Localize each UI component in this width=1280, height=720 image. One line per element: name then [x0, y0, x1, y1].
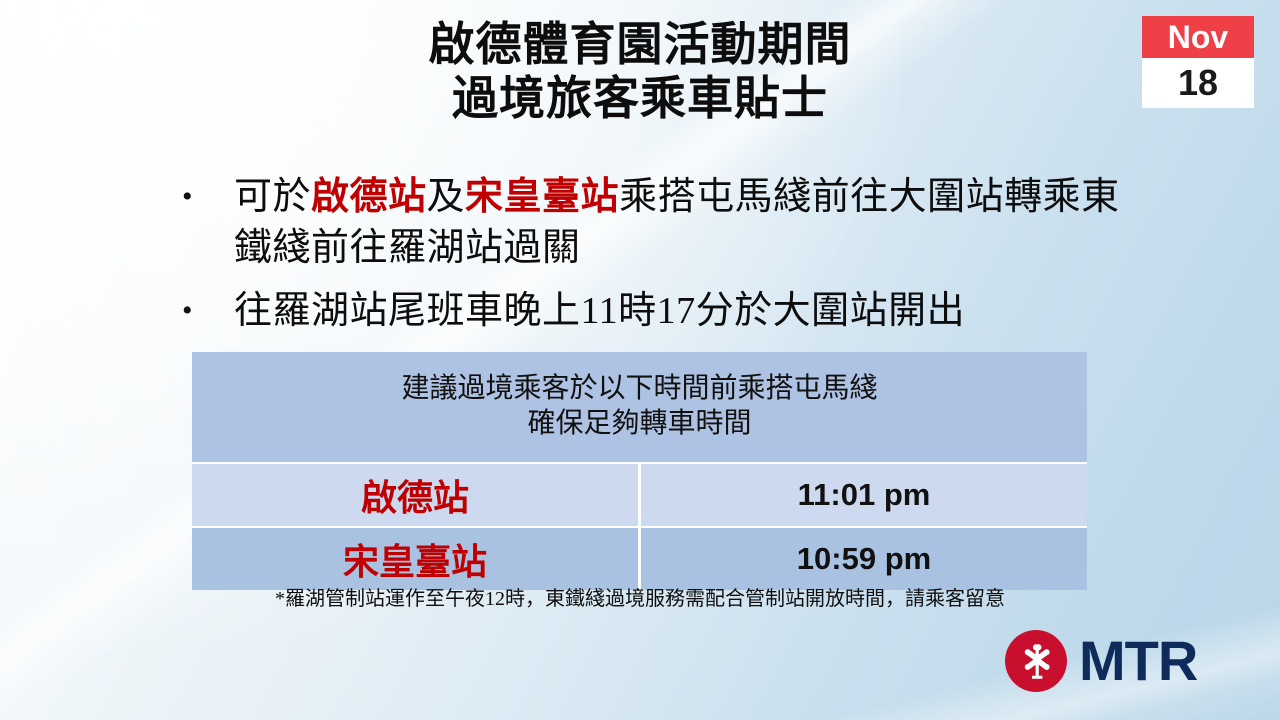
date-badge-month: Nov: [1142, 16, 1254, 58]
table-cell-time: 11:01 pm: [640, 463, 1088, 527]
page-title: 啟德體育園活動期間 過境旅客乘車貼士: [0, 18, 1280, 126]
table-cell-station: 宋皇臺站: [192, 527, 640, 590]
table-row: 宋皇臺站 10:59 pm: [192, 527, 1087, 590]
bullet-item: • 往羅湖站尾班車晚上11時17分於大圍站開出: [176, 286, 1136, 337]
bullet-item: • 可於啟德站及宋皇臺站乘搭屯馬綫前往大圍站轉乘東鐵綫前往羅湖站過關: [176, 172, 1136, 274]
mtr-roundel-icon: [1005, 630, 1067, 692]
page-title-line-2: 過境旅客乘車貼士: [0, 72, 1280, 126]
date-badge-day: 18: [1142, 58, 1254, 108]
footnote: *羅湖管制站運作至午夜12時，東鐵綫過境服務需配合管制站開放時間，請乘客留意: [0, 586, 1280, 612]
bullet-segment: 往羅湖站尾班車晚上11時17分於大圍站開出: [234, 290, 965, 332]
bullet-segment: 可於: [234, 176, 311, 218]
bullet-segment-station-kai-tak: 啟德站: [311, 176, 427, 218]
table-cell-station: 啟德站: [192, 463, 640, 527]
mtr-logo: MTR: [1005, 630, 1197, 692]
departure-advice-table: 建議過境乘客於以下時間前乘搭屯馬綫 確保足夠轉車時間 啟德站 11:01 pm …: [192, 352, 1087, 590]
table-header-cell: 建議過境乘客於以下時間前乘搭屯馬綫 確保足夠轉車時間: [192, 352, 1087, 463]
date-badge: Nov 18: [1142, 16, 1254, 108]
bullet-segment: 及: [427, 176, 466, 218]
table-header-line-2: 確保足夠轉車時間: [192, 406, 1087, 441]
table-cell-time: 10:59 pm: [640, 527, 1088, 590]
bullet-marker-icon: •: [176, 172, 234, 222]
table-row: 啟德站 11:01 pm: [192, 463, 1087, 527]
bullet-list: • 可於啟德站及宋皇臺站乘搭屯馬綫前往大圍站轉乘東鐵綫前往羅湖站過關 • 往羅湖…: [176, 172, 1136, 349]
slide-canvas: Nov 18 啟德體育園活動期間 過境旅客乘車貼士 • 可於啟德站及宋皇臺站乘搭…: [0, 0, 1280, 720]
page-title-line-1: 啟德體育園活動期間: [0, 18, 1280, 72]
bullet-segment-station-sung-wong-toi: 宋皇臺站: [465, 176, 619, 218]
table-header-row: 建議過境乘客於以下時間前乘搭屯馬綫 確保足夠轉車時間: [192, 352, 1087, 463]
table-header-line-1: 建議過境乘客於以下時間前乘搭屯馬綫: [192, 371, 1087, 406]
bullet-marker-icon: •: [176, 286, 234, 336]
bullet-item-text: 可於啟德站及宋皇臺站乘搭屯馬綫前往大圍站轉乘東鐵綫前往羅湖站過關: [234, 172, 1136, 274]
mtr-wordmark: MTR: [1079, 633, 1197, 689]
bullet-item-text: 往羅湖站尾班車晚上11時17分於大圍站開出: [234, 286, 1136, 337]
